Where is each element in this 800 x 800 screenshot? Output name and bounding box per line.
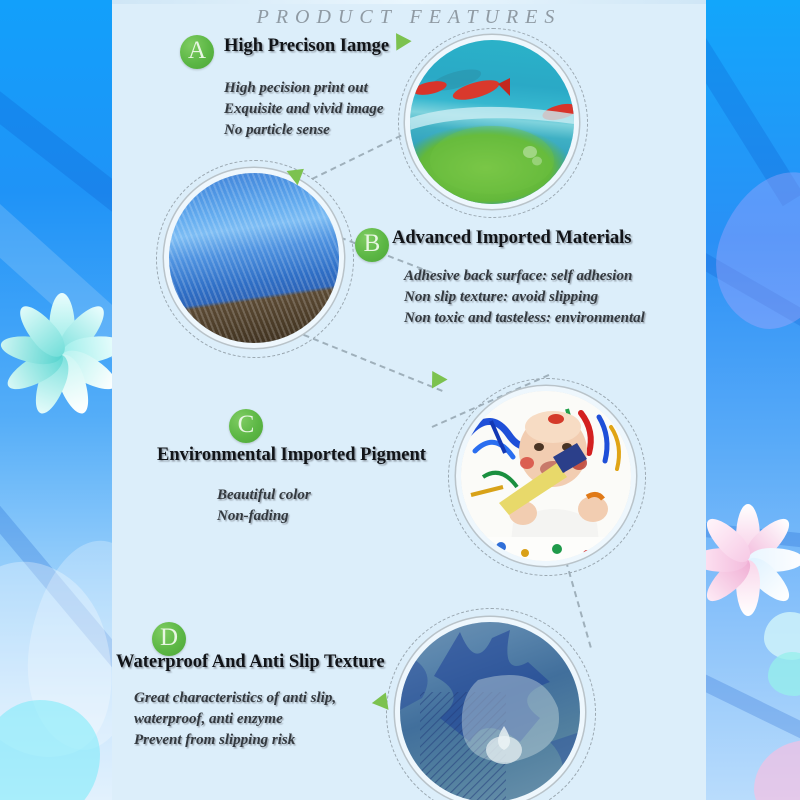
left-decorative-panel [0,0,112,800]
decor-petal [706,154,800,345]
feature-image-b [169,173,339,343]
arrow-a-icon [388,28,411,50]
feature-body-a: High pecision print out Exquisite and vi… [224,78,384,141]
water-droplet-texture-photo [400,622,580,800]
feature-badge-b: B [355,228,389,262]
top-divider [112,0,706,4]
feature-badge-a-letter: A [180,34,214,68]
feature-image-d [400,622,580,800]
feature-badge-d: D [152,622,186,656]
decor-petal [754,740,800,800]
feature-badge-c: C [229,409,263,443]
decor-band [0,60,112,241]
feature-heading-a: High Precison Iamge [224,36,389,57]
page-title: PRODUCT FEATURES [112,6,706,29]
feature-body-b: Adhesive back surface: self adhesion Non… [404,266,645,329]
feature-badge-a: A [180,35,214,69]
feature-badge-c-letter: C [229,408,263,442]
fish-and-grass-mat-photo [410,40,574,204]
baby-painting-photo [461,391,631,561]
fish-shapes [410,40,574,204]
product-features-poster: PRODUCT FEATURES A [data-name="feature-b… [0,0,800,800]
blue-fabric-texture-photo [169,173,339,343]
feature-image-a [410,40,574,204]
feature-heading-b: Advanced Imported Materials [392,228,631,249]
water-texture-shapes [400,622,580,800]
right-decorative-panel [706,0,800,800]
feature-body-c: Beautiful color Non-fading [217,485,311,527]
feature-body-d: Great characteristics of anti slip, wate… [134,688,336,751]
feature-heading-c: Environmental Imported Pigment [157,445,426,466]
feature-badge-b-letter: B [355,227,389,261]
content-area: PRODUCT FEATURES A [data-name="feature-b… [112,0,706,800]
feature-heading-d: Waterproof And Anti Slip Texture [116,652,385,673]
decor-petal [768,652,800,696]
feature-badge-d-letter: D [152,621,186,655]
baby-paint-shapes [461,391,631,561]
feature-image-c [461,391,631,561]
